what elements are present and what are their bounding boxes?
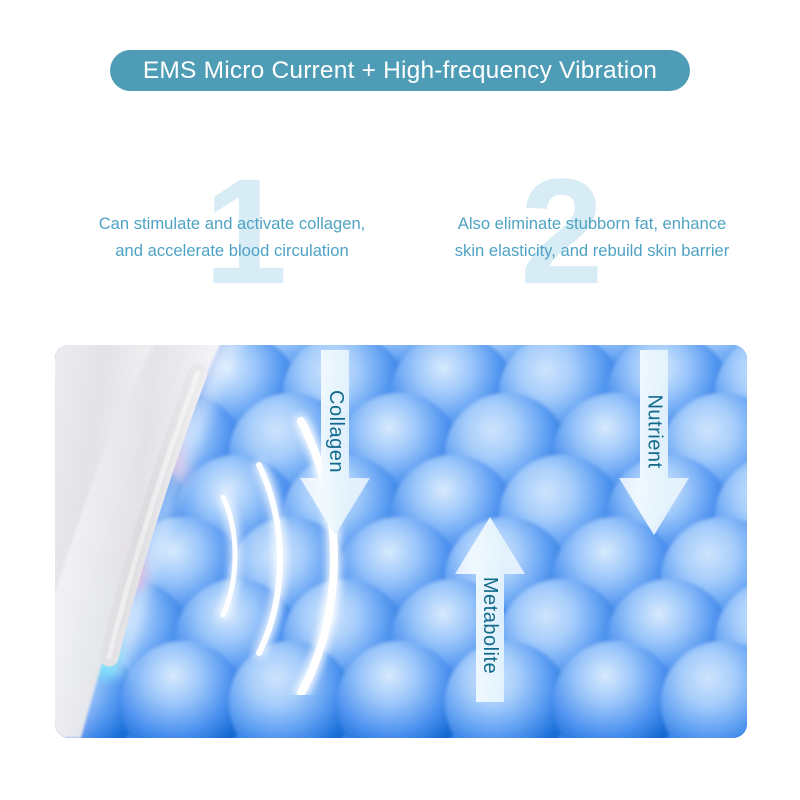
feature-1-line-2: and accelerate blood circulation — [52, 237, 412, 264]
feature-1-line-1: Can stimulate and activate collagen, — [52, 210, 412, 237]
feature-description-2: Also eliminate stubborn fat, enhance ski… — [412, 210, 772, 264]
feature-2-line-1: Also eliminate stubborn fat, enhance — [412, 210, 772, 237]
page-title-pill: EMS Micro Current + High-frequency Vibra… — [110, 50, 690, 91]
feature-block-1: 1 Can stimulate and activate collagen, a… — [52, 162, 412, 302]
page-title: EMS Micro Current + High-frequency Vibra… — [143, 57, 657, 85]
feature-2-line-2: skin elasticity, and rebuild skin barrie… — [412, 237, 772, 264]
feature-block-2: 2 Also eliminate stubborn fat, enhance s… — [412, 162, 772, 302]
feature-description-1: Can stimulate and activate collagen, and… — [52, 210, 412, 264]
flow-arrow-nutrient: Nutrient — [618, 350, 690, 536]
flow-arrow-collagen: Collagen — [299, 350, 371, 536]
flow-arrow-metabolite: Metabolite — [454, 516, 526, 702]
ems-device-wand — [55, 345, 285, 738]
